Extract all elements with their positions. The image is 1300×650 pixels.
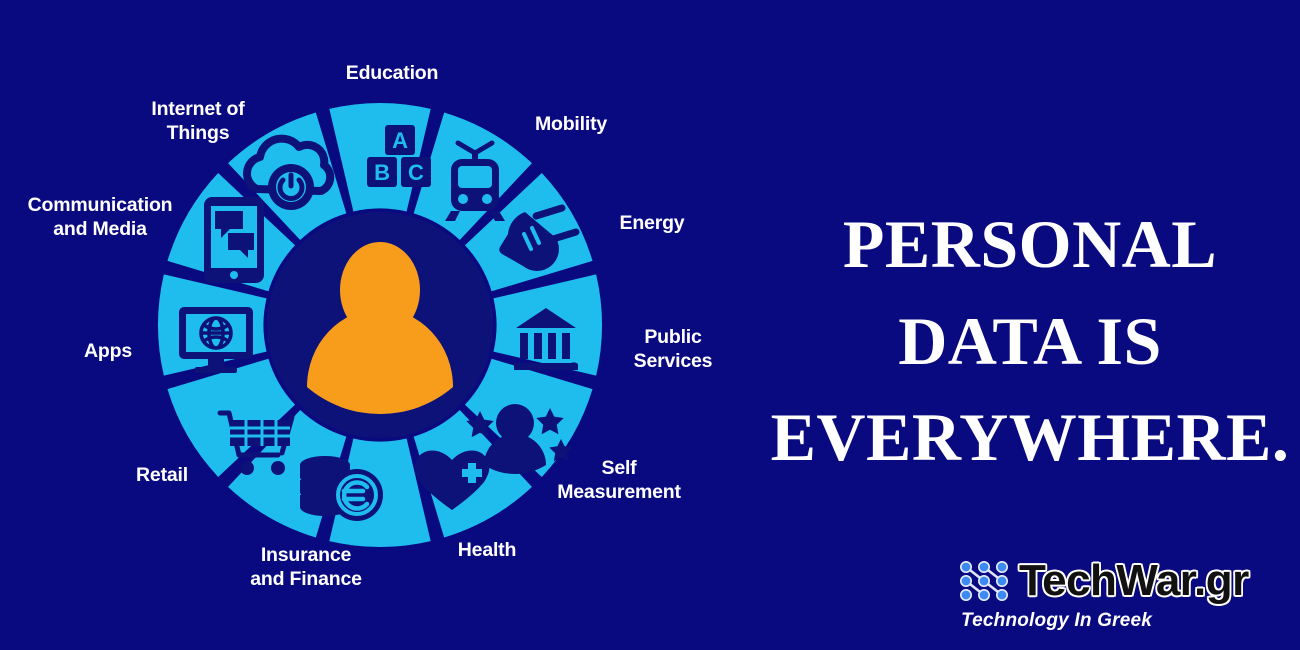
infographic-wheel: A B C <box>0 0 760 650</box>
wheel-label-self-measurement: Self Measurement <box>557 457 681 505</box>
wheel-label-public-services: Public Services <box>634 326 713 374</box>
wheel-label-mobility: Mobility <box>535 113 607 137</box>
svg-text:A: A <box>392 128 408 153</box>
logo-tagline: Technology In Greek <box>958 610 1268 632</box>
wheel-label-health: Health <box>458 539 516 563</box>
headline: PERSONAL DATA IS EVERYWHERE. <box>760 196 1300 486</box>
dot-grid-icon <box>958 559 1010 603</box>
techwar-logo[interactable]: TechWar.gr Technology In Greek <box>958 556 1268 638</box>
wheel-label-internet-of-things: Internet of Things <box>151 98 244 146</box>
wheel-label-communication-and-media: Communication and Media <box>28 194 173 242</box>
wheel-center <box>267 212 493 438</box>
wheel-label-education: Education <box>346 62 438 86</box>
svg-text:B: B <box>374 160 390 185</box>
wheel-label-apps: Apps <box>84 340 132 364</box>
headline-line-1: PERSONAL <box>760 196 1300 293</box>
wheel-label-insurance-and-finance: Insurance and Finance <box>250 544 362 592</box>
phone-chat-icon <box>204 197 264 283</box>
wheel-graphic: A B C <box>0 0 760 650</box>
wheel-label-retail: Retail <box>136 464 188 488</box>
wheel-label-energy: Energy <box>620 212 685 236</box>
svg-text:C: C <box>408 160 424 185</box>
logo-wordmark: TechWar.gr <box>1019 559 1249 603</box>
headline-line-2: DATA IS <box>760 293 1300 390</box>
headline-line-3: EVERYWHERE. <box>760 389 1300 486</box>
